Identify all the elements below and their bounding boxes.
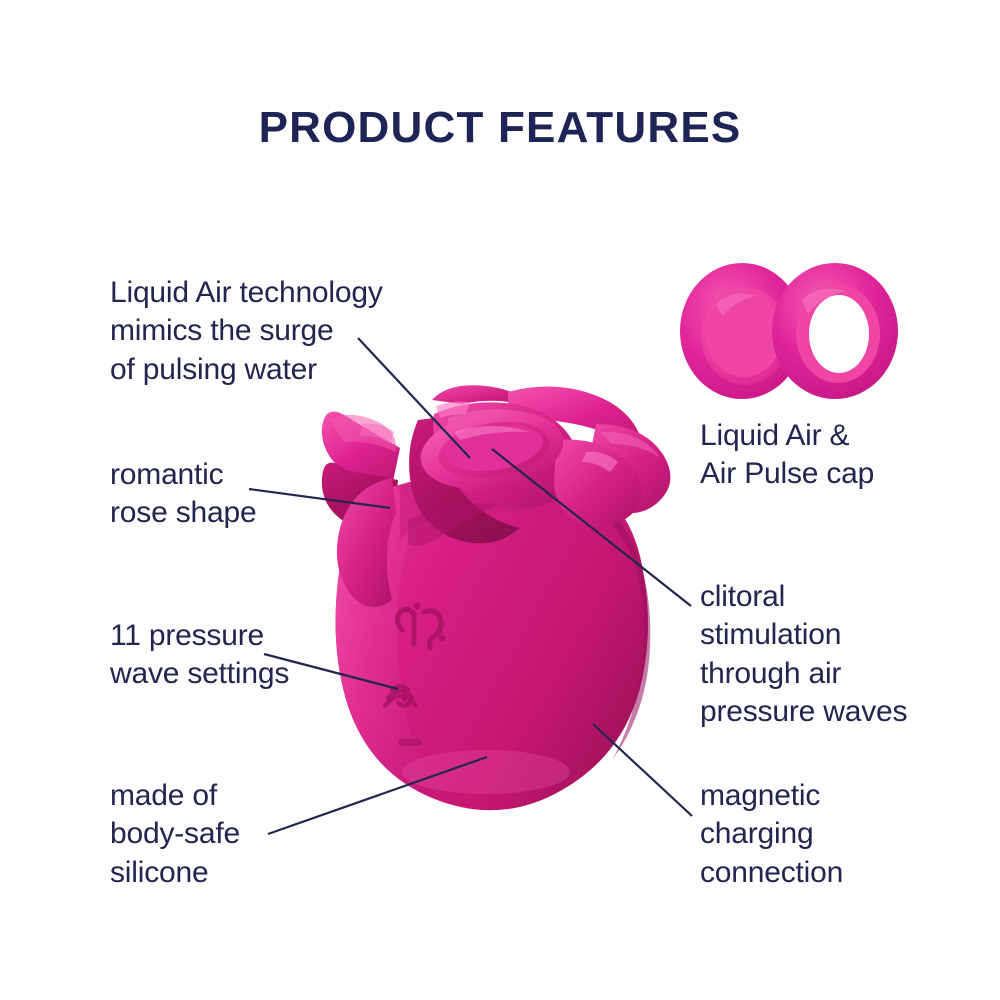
leader-liquid-air <box>358 338 470 458</box>
leader-magnetic <box>593 724 692 816</box>
leader-pressure <box>264 654 398 689</box>
leader-rose-shape <box>249 489 390 508</box>
infographic-canvas: PRODUCT FEATURES <box>0 0 1000 1000</box>
leader-silicone <box>268 757 487 834</box>
leader-clitoral <box>492 449 691 606</box>
leader-lines <box>0 0 1000 1000</box>
